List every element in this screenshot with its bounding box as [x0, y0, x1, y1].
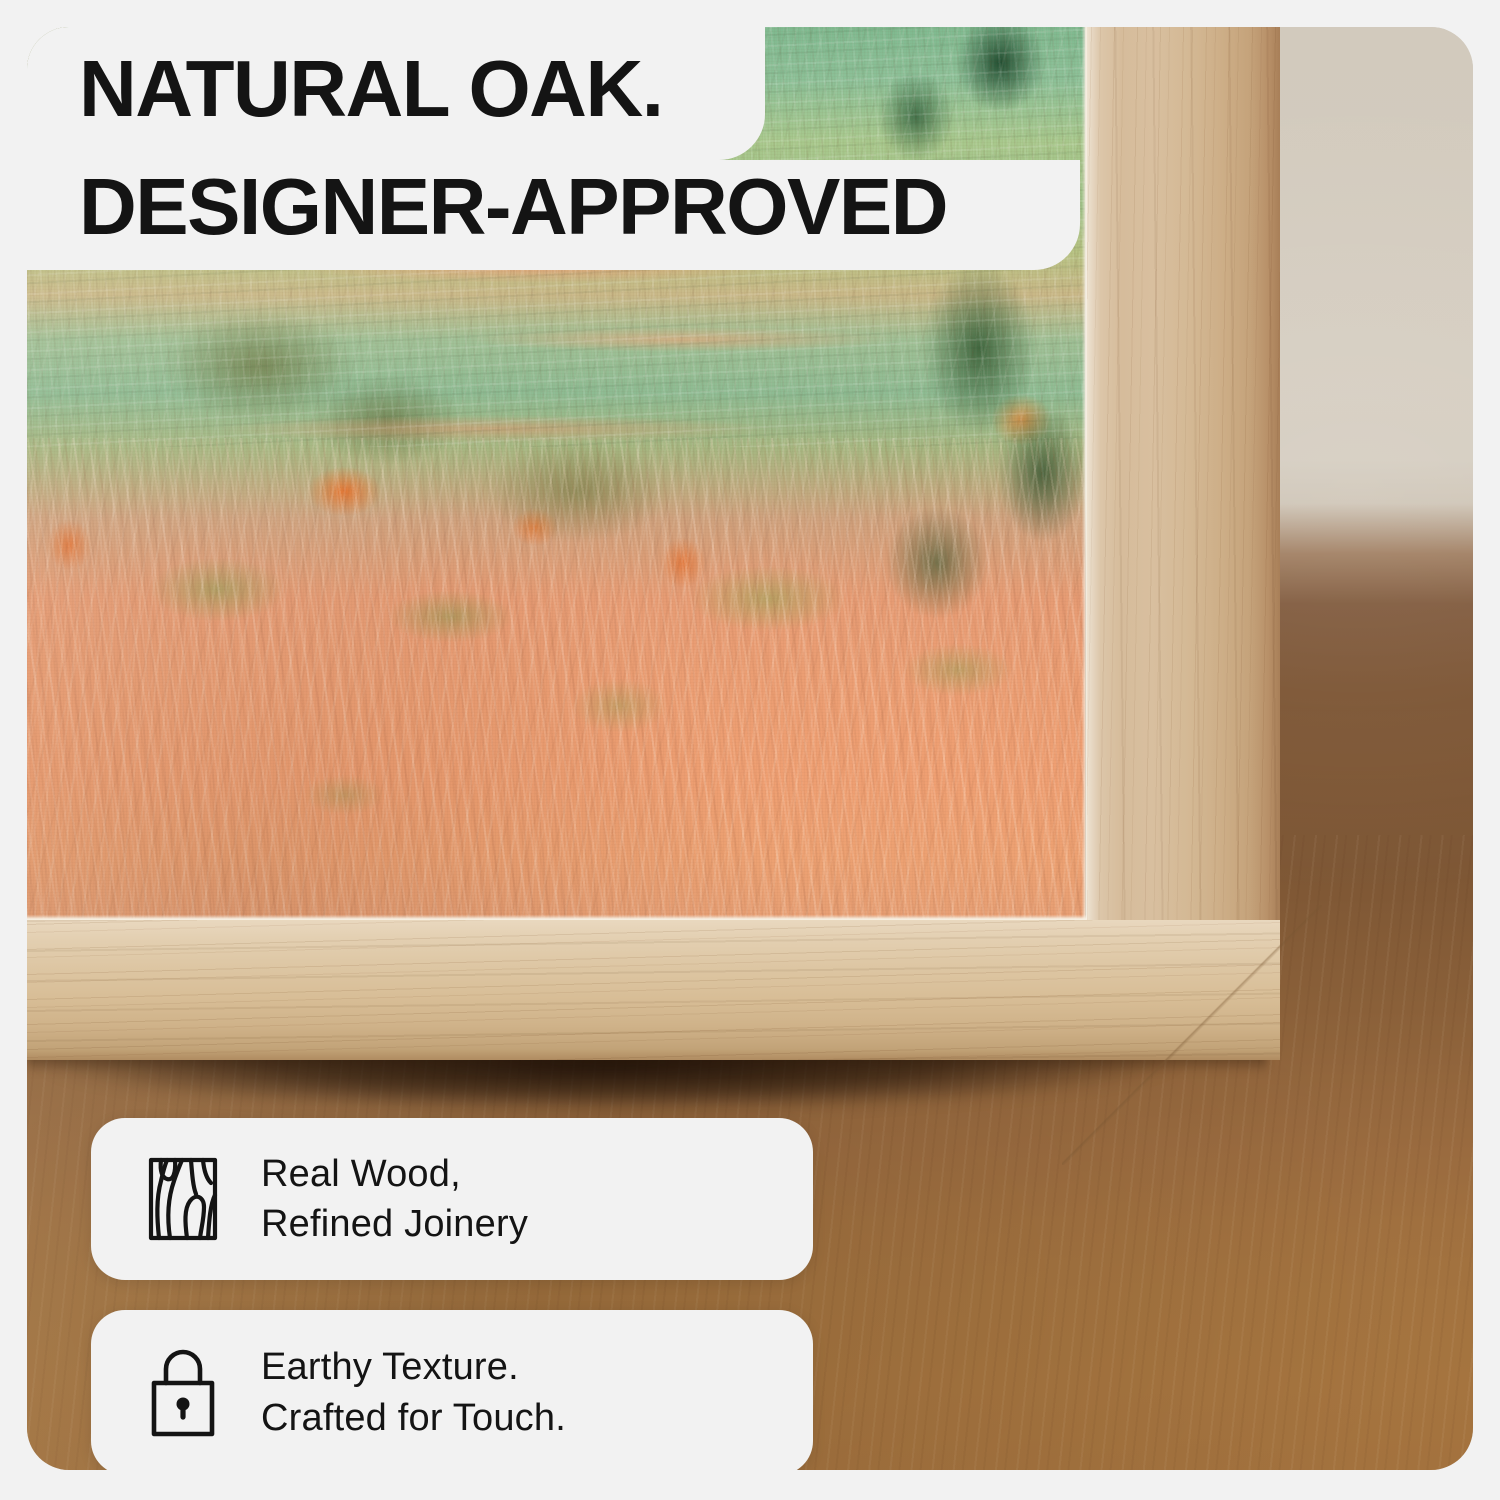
headline-line-1: NATURAL OAK.	[79, 52, 662, 136]
product-marketing-image: NATURAL OAK. DESIGNER-APPROVED Re	[0, 0, 1500, 1500]
frame-right-stile	[1087, 27, 1280, 1057]
feature-badge-real-wood: Real Wood, Refined Joinery	[91, 1118, 813, 1280]
badge-2-line-1: Earthy Texture.	[261, 1346, 519, 1388]
oak-grain-vertical	[1087, 27, 1280, 1057]
feature-badge-real-wood-text: Real Wood, Refined Joinery	[261, 1149, 528, 1249]
badge-1-line-2: Refined Joinery	[261, 1199, 528, 1249]
wood-grain-icon	[135, 1151, 231, 1247]
frame-mitre-joint	[1062, 905, 1322, 1165]
headline-line-2: DESIGNER-APPROVED	[79, 170, 947, 260]
feature-badge-earthy-texture-text: Earthy Texture. Crafted for Touch.	[261, 1342, 566, 1442]
product-lifestyle-photo: NATURAL OAK. DESIGNER-APPROVED Re	[27, 27, 1473, 1470]
feature-badge-earthy-texture: Earthy Texture. Crafted for Touch.	[91, 1310, 813, 1470]
headline-line-2-pill: DESIGNER-APPROVED	[27, 160, 1080, 270]
padlock-icon	[135, 1345, 231, 1441]
badge-2-line-2: Crafted for Touch.	[261, 1393, 566, 1443]
badge-1-line-1: Real Wood,	[261, 1153, 461, 1195]
headline-line-1-pill: NATURAL OAK.	[27, 27, 765, 160]
